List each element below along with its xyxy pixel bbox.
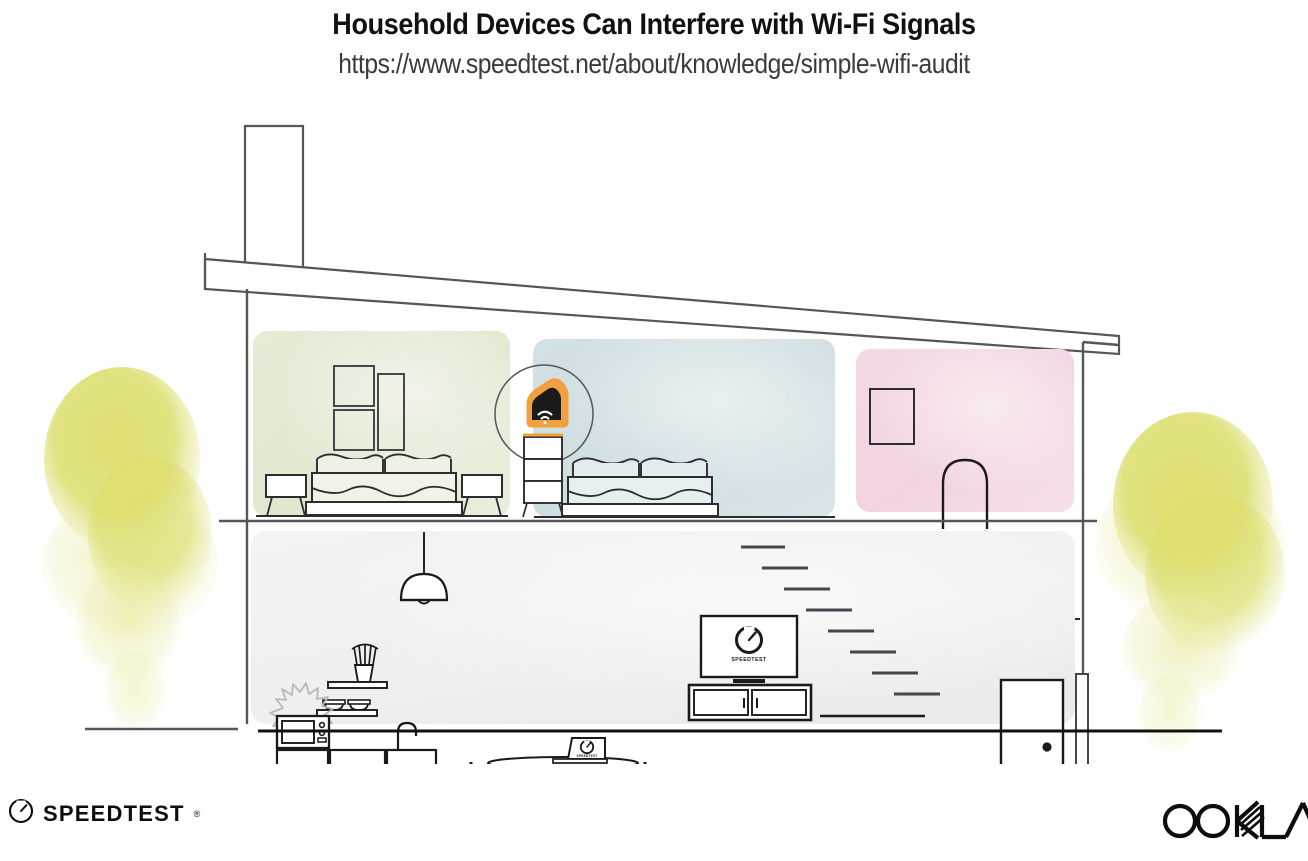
chimney <box>245 126 303 274</box>
footer: SPEEDTEST ® <box>0 764 1308 861</box>
room-green-bedroom <box>253 331 510 517</box>
speedtest-wordmark: SPEEDTEST <box>43 801 185 827</box>
infographic-page: Household Devices Can Interfere with Wi-… <box>0 0 1308 861</box>
room-ground-floor: SPEEDTEST <box>251 531 1075 764</box>
header: Household Devices Can Interfere with Wi-… <box>0 0 1308 104</box>
speedtest-logo: SPEEDTEST ® <box>8 798 200 829</box>
sink-faucet <box>398 723 416 750</box>
svg-text:SPEEDTEST: SPEEDTEST <box>731 657 767 663</box>
media-console <box>689 685 811 720</box>
page-title: Household Devices Can Interfere with Wi-… <box>65 0 1242 42</box>
source-url: https://www.speedtest.net/about/knowledg… <box>78 42 1229 80</box>
speedtest-gauge-icon <box>8 798 34 829</box>
svg-text:SPEEDTEST: SPEEDTEST <box>577 754 598 758</box>
tree-left <box>42 367 218 734</box>
television[interactable]: SPEEDTEST <box>701 616 797 683</box>
front-door[interactable] <box>1001 680 1063 764</box>
speedtest-trademark: ® <box>194 809 201 819</box>
tall-narrow-window <box>1076 674 1088 764</box>
wifi-router[interactable] <box>523 379 568 435</box>
tree-right <box>1095 412 1285 754</box>
house-illustration: SPEEDTEST <box>0 104 1308 764</box>
laptop[interactable]: SPEEDTEST <box>553 738 607 763</box>
ookla-logo <box>1158 800 1308 840</box>
